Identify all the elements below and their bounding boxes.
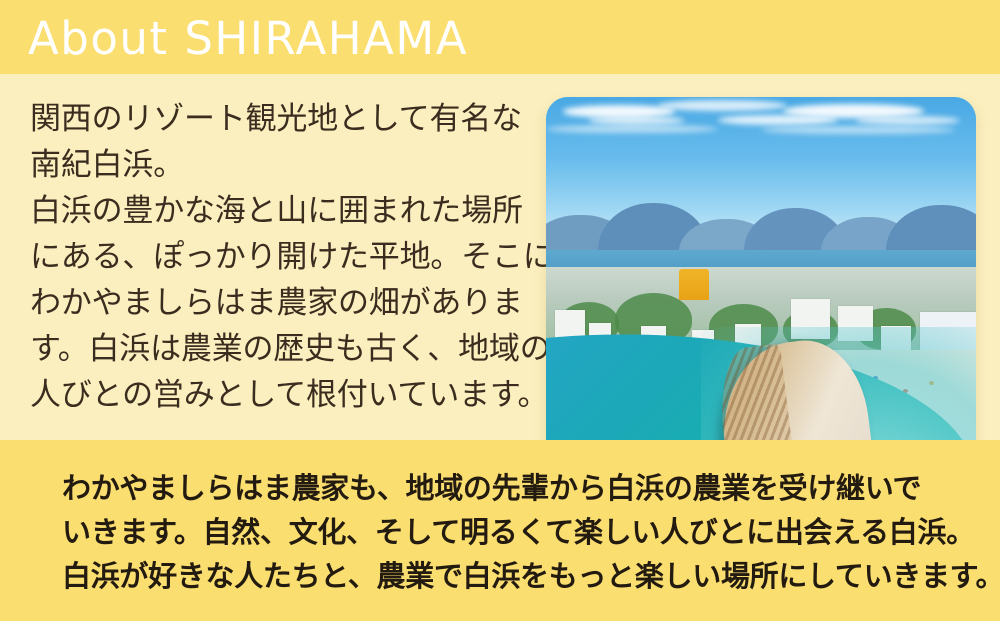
- cloud-shape: [658, 100, 787, 111]
- intro-line: 人びとの営みとして根付いています。: [30, 372, 520, 418]
- mountain-range: [546, 200, 976, 254]
- shirahama-beach-photo: [546, 97, 976, 480]
- intro-line: にある、ぽっかり開けた平地。そこに: [30, 234, 520, 280]
- closing-line: 白浜が好きな人たちと、農業で白浜をもっと楽しい場所にしていきます。: [62, 554, 952, 598]
- cloud-shape: [761, 126, 955, 134]
- closing-line: わかやましらはま農家も、地域の先輩から白浜の農業を受け継いで: [62, 466, 952, 510]
- intro-line: 関西のリゾート観光地として有名な: [30, 96, 520, 142]
- page-title: About SHIRAHAMA: [28, 13, 468, 65]
- closing-line: いきます。自然、文化、そして明るくて楽しい人びとに出会える白浜。: [62, 510, 952, 554]
- body-region: 関西のリゾート観光地として有名な 南紀白浜。 白浜の豊かな海と山に囲まれた場所 …: [0, 74, 1000, 440]
- photo-canvas: [546, 97, 976, 480]
- mountain-peak: [886, 205, 976, 254]
- castle-building: [679, 269, 709, 300]
- cloud-shape: [546, 125, 718, 133]
- footer-band: わかやましらはま農家も、地域の先輩から白浜の農業を受け継いで いきます。自然、文…: [0, 440, 1000, 621]
- header-band: About SHIRAHAMA: [0, 0, 1000, 74]
- closing-paragraph: わかやましらはま農家も、地域の先輩から白浜の農業を受け継いで いきます。自然、文…: [62, 466, 952, 598]
- intro-line: す。白浜は農業の歴史も古く、地域の: [30, 326, 520, 372]
- intro-paragraph: 関西のリゾート観光地として有名な 南紀白浜。 白浜の豊かな海と山に囲まれた場所 …: [30, 96, 520, 418]
- cloud-shape: [589, 116, 684, 124]
- intro-line: 南紀白浜。: [30, 142, 520, 188]
- intro-line: わかやましらはま農家の畑がありま: [30, 280, 520, 326]
- about-shirahama-panel: About SHIRAHAMA 関西のリゾート観光地として有名な 南紀白浜。 白…: [0, 0, 1000, 621]
- intro-line: 白浜の豊かな海と山に囲まれた場所: [30, 188, 520, 234]
- cloud-shape: [718, 115, 838, 125]
- cloud-shape: [856, 116, 959, 124]
